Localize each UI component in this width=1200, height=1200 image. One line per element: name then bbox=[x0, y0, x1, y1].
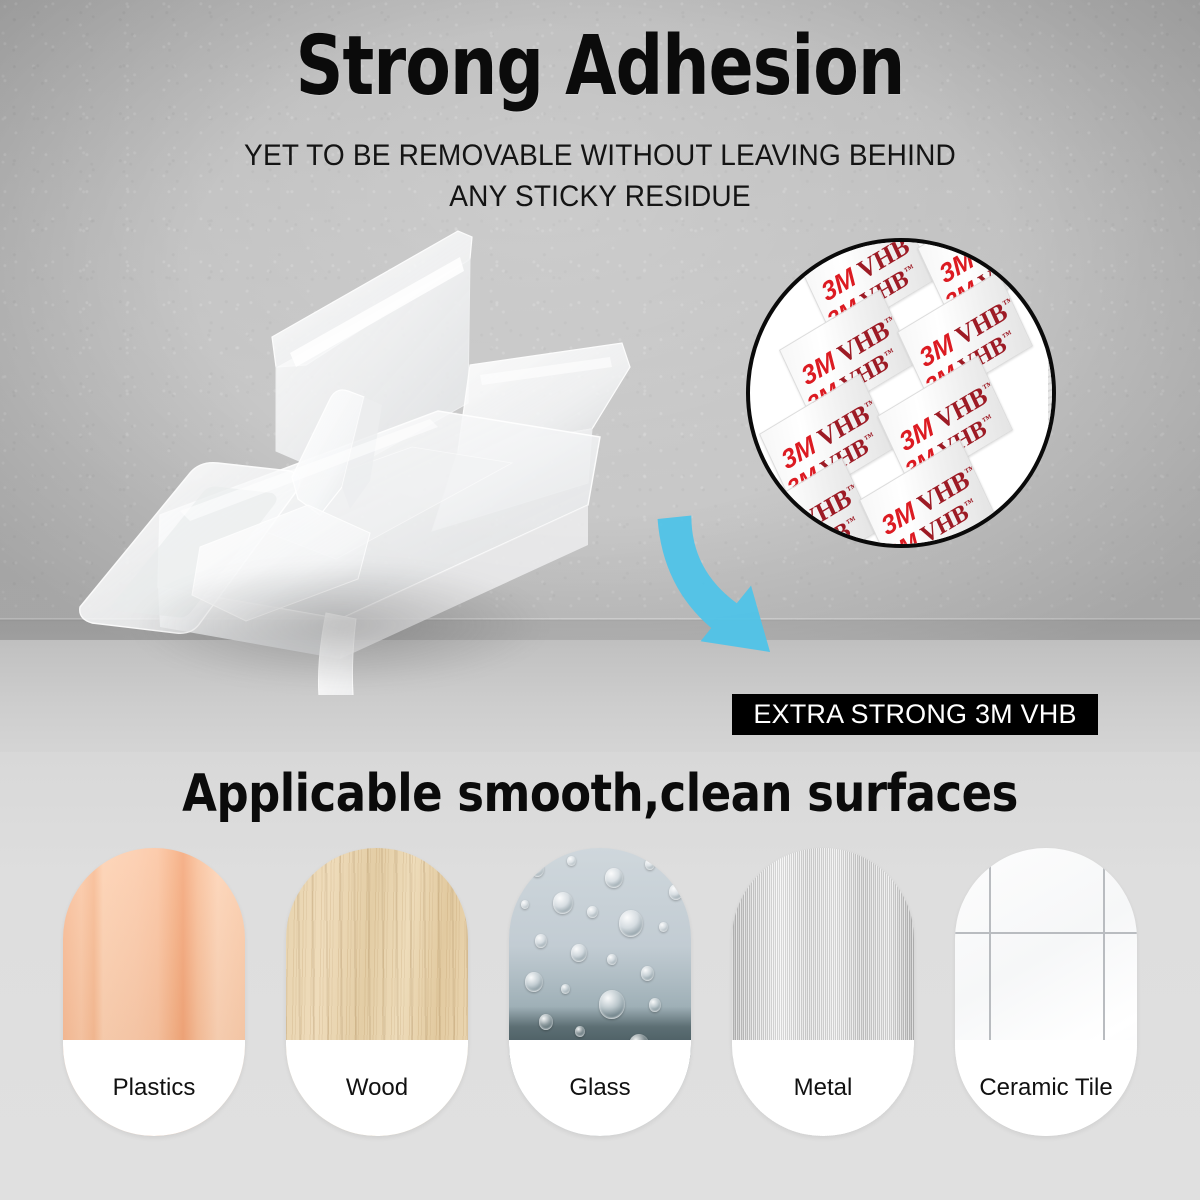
surface-label: Wood bbox=[340, 1075, 414, 1102]
product-infographic: Strong Adhesion YET TO BE REMOVABLE WITH… bbox=[0, 0, 1200, 1200]
surface-card-wood[interactable]: Wood bbox=[286, 848, 468, 1136]
surface-label: Plastics bbox=[107, 1075, 202, 1102]
surface-label: Ceramic Tile bbox=[973, 1075, 1118, 1102]
product-shadow bbox=[125, 560, 555, 690]
tape-brand: 3M bbox=[758, 513, 802, 548]
surface-card-plastics[interactable]: Plastics bbox=[63, 848, 245, 1136]
circle-zoom-icon: 3M VHB™ 3M VHB™ 3M VHB™ 3M VHB™ bbox=[746, 238, 1056, 548]
surface-label: Glass bbox=[563, 1075, 636, 1102]
subtitle-line-1: YET TO BE REMOVABLE WITHOUT LEAVING BEHI… bbox=[30, 136, 1170, 177]
vhb-zoom-disc: 3M VHB™ 3M VHB™ 3M VHB™ 3M VHB™ bbox=[746, 238, 1056, 548]
surface-list: Plastics Wood bbox=[63, 848, 1137, 1136]
vhb-tape-stack: 3M VHB™ 3M VHB™ 3M VHB™ 3M VHB™ bbox=[746, 238, 1056, 548]
tape-brand: 3M bbox=[765, 546, 805, 548]
status-badge: EXTRA STRONG 3M VHB bbox=[732, 694, 1098, 735]
surface-label: Metal bbox=[788, 1075, 859, 1102]
subtitle-line-2: ANY STICKY RESIDUE bbox=[30, 177, 1170, 218]
badge-label: EXTRA STRONG 3M VHB bbox=[753, 699, 1076, 730]
section-title: Applicable smooth,clean surfaces bbox=[24, 764, 1176, 824]
page-subtitle: YET TO BE REMOVABLE WITHOUT LEAVING BEHI… bbox=[30, 136, 1170, 217]
page-title: Strong Adhesion bbox=[60, 26, 1140, 108]
product-image bbox=[40, 215, 680, 695]
surface-card-ceramic-tile[interactable]: Ceramic Tile bbox=[955, 848, 1137, 1136]
surface-card-metal[interactable]: Metal bbox=[732, 848, 914, 1136]
tape-stack-side bbox=[1048, 253, 1056, 541]
surface-card-glass[interactable]: Glass bbox=[509, 848, 691, 1136]
